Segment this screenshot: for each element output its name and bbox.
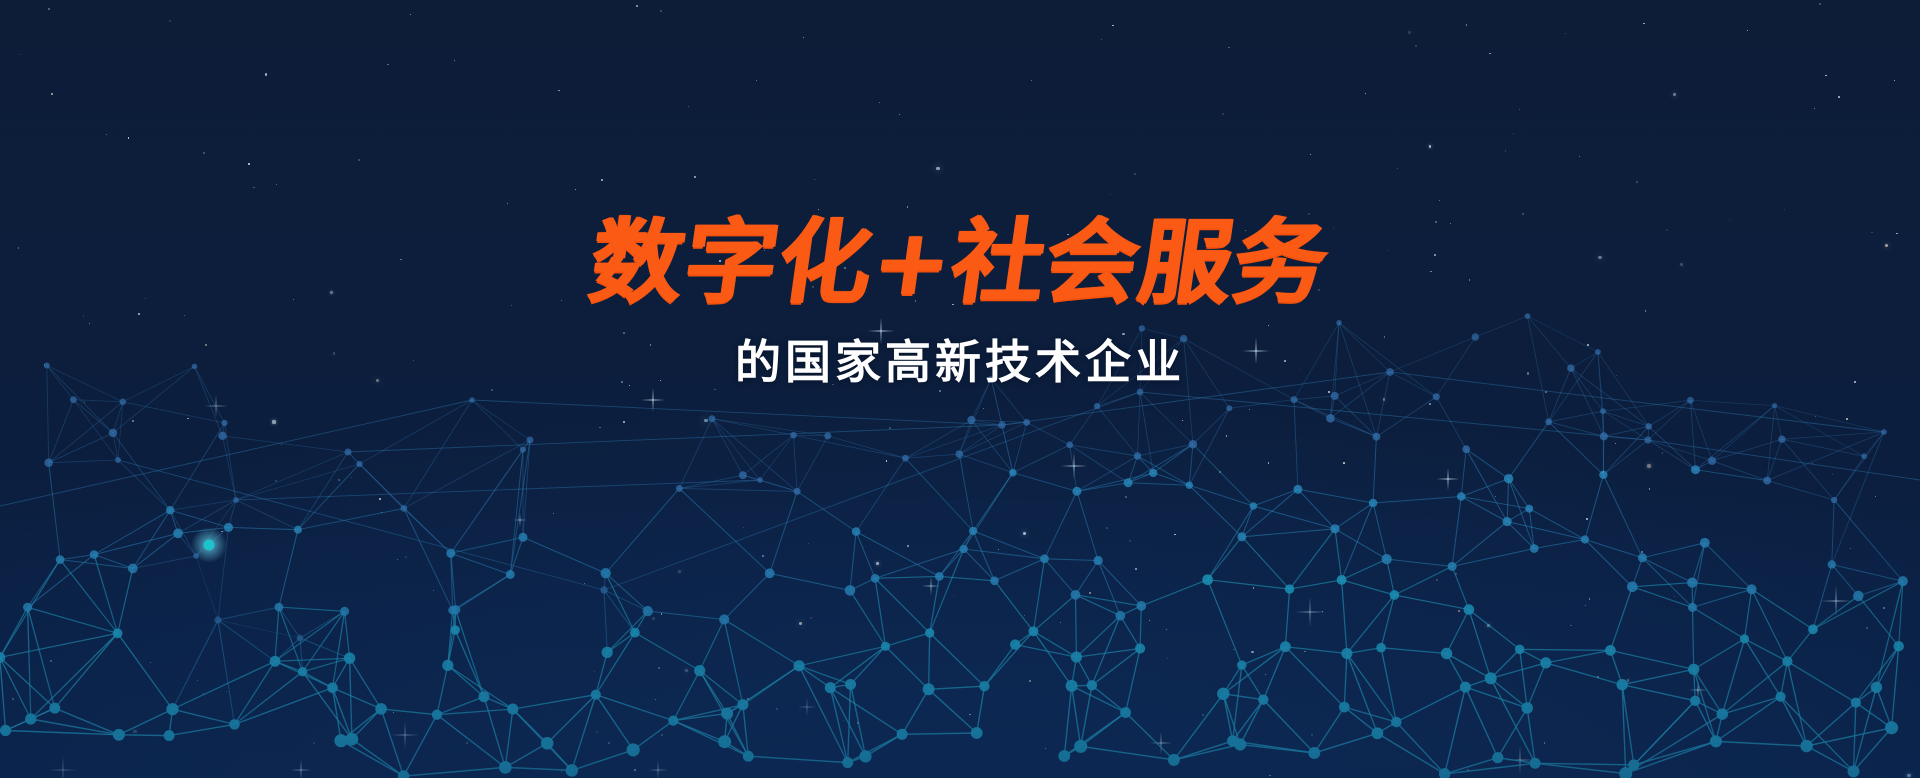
network-edge: [1076, 616, 1120, 657]
network-node: [743, 751, 754, 762]
network-edge: [1466, 449, 1508, 479]
network-edge: [851, 684, 866, 756]
network-node: [1074, 740, 1087, 753]
network-edge: [930, 549, 964, 633]
network-edge: [0, 657, 31, 719]
network-edge: [1527, 663, 1546, 708]
network-node: [344, 448, 351, 455]
network-edge: [902, 689, 929, 734]
network-edge: [451, 537, 523, 553]
network-edge: [1396, 687, 1465, 722]
network-edge: [995, 581, 1034, 632]
network-node: [1747, 584, 1757, 594]
network-edge: [1045, 559, 1076, 595]
network-node: [375, 703, 387, 715]
network-node: [448, 606, 457, 615]
network-edge: [1752, 589, 1788, 661]
network-edge: [1335, 529, 1342, 580]
network-node: [469, 397, 475, 403]
network-node: [1280, 641, 1291, 652]
network-node: [70, 396, 77, 403]
network-edge: [794, 435, 798, 491]
network-edge: [929, 633, 930, 689]
network-edge: [0, 657, 55, 708]
network-edge: [1290, 529, 1335, 589]
network-node: [1893, 641, 1903, 651]
network-node: [790, 432, 797, 439]
network-edge: [1787, 661, 1855, 702]
network-node: [591, 690, 601, 700]
network-edge: [1077, 473, 1153, 491]
network-node: [432, 710, 442, 720]
network-edge: [1781, 697, 1854, 772]
network-node: [25, 713, 36, 724]
network-node: [1391, 717, 1402, 728]
network-edge: [1098, 561, 1141, 606]
network-edge: [1013, 445, 1070, 473]
network-edge: [1138, 456, 1190, 485]
network-node: [1330, 524, 1339, 533]
network-edge: [28, 607, 118, 633]
network-edge: [973, 473, 1013, 531]
network-edge: [523, 537, 606, 573]
network-edge: [1642, 558, 1692, 583]
network-edge: [799, 666, 830, 688]
network-edge: [1498, 708, 1527, 758]
network-node: [979, 681, 989, 691]
network-node: [1115, 611, 1125, 621]
network-edge: [1648, 440, 1712, 461]
network-edge: [1377, 733, 1444, 774]
network-node: [1134, 452, 1141, 459]
network-node: [1071, 652, 1082, 663]
network-edge: [1520, 649, 1528, 708]
network-node: [1149, 469, 1157, 477]
network-node: [1898, 576, 1908, 586]
network-edge: [300, 638, 350, 658]
network-node: [1600, 408, 1606, 414]
network-node: [218, 432, 226, 440]
network-node: [1710, 735, 1722, 747]
network-edge: [905, 458, 973, 531]
network-edge: [275, 607, 279, 661]
network-edge: [930, 633, 985, 686]
hero-banner: 数字化+社会服务 的国家高新技术企业: [0, 0, 1920, 778]
network-node: [1540, 657, 1551, 668]
network-edge: [381, 709, 437, 715]
network-edge: [1285, 647, 1344, 707]
network-node: [1628, 759, 1639, 770]
network-edge: [1445, 687, 1466, 774]
network-edge: [1603, 426, 1648, 474]
network-node: [1700, 538, 1710, 548]
network-edge: [1033, 595, 1075, 632]
network-edge: [606, 573, 648, 611]
network-edge: [1465, 687, 1497, 758]
network-node: [1644, 436, 1651, 443]
network-node: [1776, 692, 1786, 702]
network-node: [119, 398, 126, 405]
network-node: [446, 549, 455, 558]
network-edge: [1314, 733, 1377, 753]
network-node: [960, 545, 968, 553]
network-node: [344, 653, 355, 664]
network-edge: [1546, 663, 1622, 685]
network-node: [1687, 577, 1697, 587]
network-edge: [133, 510, 170, 568]
network-node: [1308, 747, 1320, 759]
network-edge: [1610, 650, 1693, 669]
network-edge: [797, 491, 856, 531]
network-edge: [679, 488, 769, 573]
network-node: [1441, 648, 1452, 659]
network-edge: [1208, 580, 1290, 589]
network-edge: [1509, 479, 1535, 549]
network-node: [1094, 403, 1100, 409]
network-edge: [1832, 565, 1859, 596]
network-node: [737, 699, 748, 710]
network-edge: [404, 440, 530, 508]
network-edge: [1342, 580, 1347, 654]
network-edge: [1263, 700, 1314, 753]
network-edge: [959, 454, 1013, 473]
network-edge: [1610, 587, 1632, 651]
network-node: [990, 577, 999, 586]
network-edge: [279, 607, 345, 611]
network-edge: [712, 419, 760, 480]
network-node: [1645, 423, 1652, 430]
network-node: [757, 477, 763, 483]
network-node: [1040, 554, 1049, 563]
network-edge: [939, 576, 994, 580]
network-node: [1023, 419, 1030, 426]
network-edge: [673, 721, 748, 757]
network-edge: [964, 549, 995, 581]
network-node: [1605, 645, 1616, 656]
network-edge: [1507, 522, 1534, 549]
network-edge: [1193, 408, 1229, 444]
network-node: [1525, 505, 1533, 513]
network-node: [718, 735, 731, 748]
network-node: [166, 506, 174, 514]
network-node: [128, 564, 138, 574]
network-node: [824, 432, 831, 439]
network-edge: [1520, 649, 1611, 650]
network-edge: [1491, 678, 1528, 708]
network-node: [541, 737, 554, 750]
network-edge: [1634, 701, 1695, 765]
network-edge: [1452, 566, 1469, 609]
network-edge: [1436, 397, 1466, 449]
network-node: [765, 568, 775, 578]
network-node: [90, 550, 99, 559]
network-edge: [1696, 470, 1768, 481]
network-node: [1124, 478, 1133, 487]
network-node: [1234, 738, 1246, 750]
network-node: [1638, 553, 1647, 562]
network-edge: [1381, 648, 1447, 654]
network-node: [694, 665, 705, 676]
network-node: [1326, 414, 1335, 423]
network-edge: [1208, 506, 1254, 580]
network-node: [1072, 487, 1081, 496]
network-edge: [350, 658, 352, 739]
network-edge: [1015, 645, 1076, 658]
network-edge: [604, 590, 607, 652]
network-edge: [28, 607, 31, 719]
network-edge: [1394, 566, 1452, 595]
network-node: [0, 725, 11, 736]
network-node: [1828, 560, 1836, 568]
page-title: 数字化+社会服务: [585, 216, 1335, 310]
network-edge: [1781, 697, 1807, 746]
network-edge: [977, 686, 985, 733]
network-edge: [170, 423, 224, 510]
network-edge: [1387, 559, 1395, 595]
network-node: [1010, 639, 1020, 649]
network-node: [825, 682, 836, 693]
network-node: [1800, 740, 1813, 753]
network-edge: [1242, 537, 1290, 589]
network-edge: [169, 724, 234, 735]
network-edge: [1632, 583, 1692, 587]
network-edge: [875, 578, 930, 633]
network-edge: [1509, 479, 1530, 509]
network-edge: [1076, 595, 1077, 657]
network-node: [334, 734, 347, 747]
network-edge: [886, 633, 930, 646]
network-edge: [1693, 589, 1752, 607]
network-edge: [794, 435, 906, 458]
network-edge: [119, 735, 169, 736]
network-edge: [929, 689, 977, 733]
network-node: [297, 635, 304, 642]
network-edge: [700, 620, 725, 671]
network-node: [1337, 575, 1347, 585]
network-node: [1848, 765, 1860, 777]
network-edge: [1690, 400, 1695, 469]
network-edge: [1603, 440, 1648, 475]
network-node: [1258, 695, 1268, 705]
network-edge: [1240, 700, 1263, 745]
network-edge: [1854, 703, 1856, 772]
network-node: [1331, 392, 1339, 400]
network-node: [1087, 680, 1097, 690]
network-edge: [712, 419, 743, 476]
network-node: [1290, 396, 1297, 403]
network-edge: [472, 400, 1002, 425]
network-edge: [1342, 580, 1395, 595]
network-node: [955, 450, 963, 458]
network-edge: [712, 419, 794, 436]
network-edge: [1330, 418, 1376, 436]
network-edge: [348, 425, 1002, 452]
network-node: [1462, 445, 1470, 453]
network-edge: [1070, 445, 1128, 483]
network-edge: [236, 464, 360, 500]
network-edge: [1193, 444, 1254, 506]
network-node: [1881, 429, 1887, 435]
network-node: [1687, 397, 1694, 404]
network-edge: [1076, 561, 1099, 595]
network-edge: [1813, 596, 1858, 629]
network-edge: [1693, 607, 1745, 639]
network-node: [842, 757, 853, 768]
network-edge: [437, 665, 448, 714]
network-edge: [118, 633, 173, 709]
network-node: [1617, 679, 1628, 690]
network-edge: [118, 460, 604, 590]
network-edge: [606, 488, 680, 573]
network-node: [1690, 696, 1700, 706]
network-node: [1861, 453, 1867, 459]
network-edge: [866, 734, 903, 756]
network-node: [998, 421, 1006, 429]
network-node: [1504, 474, 1513, 483]
network-edge: [875, 578, 885, 646]
network-node: [340, 607, 349, 616]
network-node: [719, 614, 729, 624]
network-node: [1382, 554, 1392, 564]
network-edge: [1696, 406, 1775, 470]
network-edge: [404, 508, 453, 610]
network-edge: [119, 709, 173, 735]
network-node: [442, 660, 453, 671]
network-edge: [196, 556, 218, 620]
network-node: [294, 526, 302, 534]
network-node: [499, 761, 512, 774]
network-edge: [673, 671, 699, 721]
network-edge: [235, 672, 303, 725]
network-edge: [1856, 646, 1899, 702]
network-edge: [49, 460, 118, 463]
network-node: [49, 703, 60, 714]
network-node: [1515, 645, 1525, 655]
network-node: [1521, 702, 1533, 714]
network-node: [298, 667, 307, 676]
network-node: [1237, 660, 1246, 669]
network-node: [1136, 601, 1146, 611]
network-node: [518, 533, 527, 542]
network-node: [721, 708, 733, 720]
network-node: [1530, 758, 1541, 769]
network-node: [1851, 698, 1861, 708]
network-node: [871, 574, 880, 583]
network-edge: [1649, 426, 1696, 469]
network-edge: [1447, 610, 1469, 654]
network-node: [1530, 544, 1539, 553]
network-edge: [830, 688, 847, 763]
network-node: [1372, 433, 1380, 441]
network-edge: [1712, 439, 1782, 461]
network-edge: [236, 500, 298, 530]
network-edge: [1242, 665, 1264, 700]
network-node: [270, 656, 281, 667]
network-node: [971, 727, 983, 739]
network-node: [1066, 442, 1073, 449]
network-node: [113, 729, 125, 741]
network-node: [1285, 584, 1294, 593]
network-node: [845, 679, 856, 690]
network-edge: [510, 440, 530, 575]
network-node: [1202, 574, 1213, 585]
network-edge: [1712, 461, 1767, 481]
network-edge: [173, 709, 235, 724]
network-edge: [572, 750, 633, 771]
network-edge: [118, 460, 170, 510]
network-edge: [1128, 483, 1189, 485]
network-edge: [1775, 406, 1782, 440]
network-edge: [828, 436, 906, 458]
network-edge: [1285, 647, 1347, 654]
network-node: [1688, 664, 1699, 675]
network-node: [327, 682, 338, 693]
network-edge: [1622, 685, 1695, 701]
network-node: [479, 691, 490, 702]
network-edge: [1546, 650, 1611, 663]
network-node: [1369, 499, 1378, 508]
network-node: [925, 628, 934, 637]
network-node: [1066, 680, 1078, 692]
network-edge: [1549, 422, 1604, 475]
network-node: [507, 704, 518, 715]
network-node: [1772, 403, 1777, 408]
network-node: [1372, 727, 1384, 739]
network-node: [23, 603, 32, 612]
network-node: [1485, 672, 1497, 684]
network-node: [627, 743, 640, 756]
network-edge: [1787, 661, 1806, 746]
network-edge: [1070, 445, 1077, 491]
network-edge: [118, 568, 133, 633]
network-edge: [770, 573, 850, 590]
network-edge: [1174, 741, 1233, 760]
network-node: [1448, 562, 1457, 571]
network-node: [1831, 497, 1837, 503]
network-edge: [1045, 559, 1099, 561]
network-node: [1376, 643, 1386, 653]
network-edge: [1452, 549, 1534, 567]
network-node: [221, 420, 227, 426]
network-node: [1688, 603, 1697, 612]
network-node: [1778, 435, 1785, 442]
network-edge: [1294, 400, 1376, 437]
network-node: [1464, 604, 1475, 615]
network-edge: [1745, 589, 1752, 639]
network-edge: [679, 488, 797, 491]
network-edge: [1507, 479, 1509, 522]
network-edge: [472, 400, 523, 450]
network-edge: [1285, 589, 1289, 647]
network-edge: [49, 463, 60, 560]
network-edge: [1387, 559, 1452, 566]
network-edge: [850, 590, 886, 646]
network-edge: [648, 611, 724, 619]
network-edge: [1461, 449, 1466, 496]
network-edge: [298, 452, 348, 530]
network-edge: [404, 767, 506, 776]
network-edge: [1603, 475, 1642, 558]
network-edge: [1452, 497, 1461, 567]
network-edge: [1604, 426, 1649, 436]
network-edge: [1064, 713, 1125, 757]
network-node: [1120, 707, 1131, 718]
network-node: [859, 750, 871, 762]
network-node: [923, 683, 935, 695]
network-edge: [856, 458, 905, 531]
network-edge: [596, 633, 635, 695]
network-edge: [1253, 506, 1335, 529]
